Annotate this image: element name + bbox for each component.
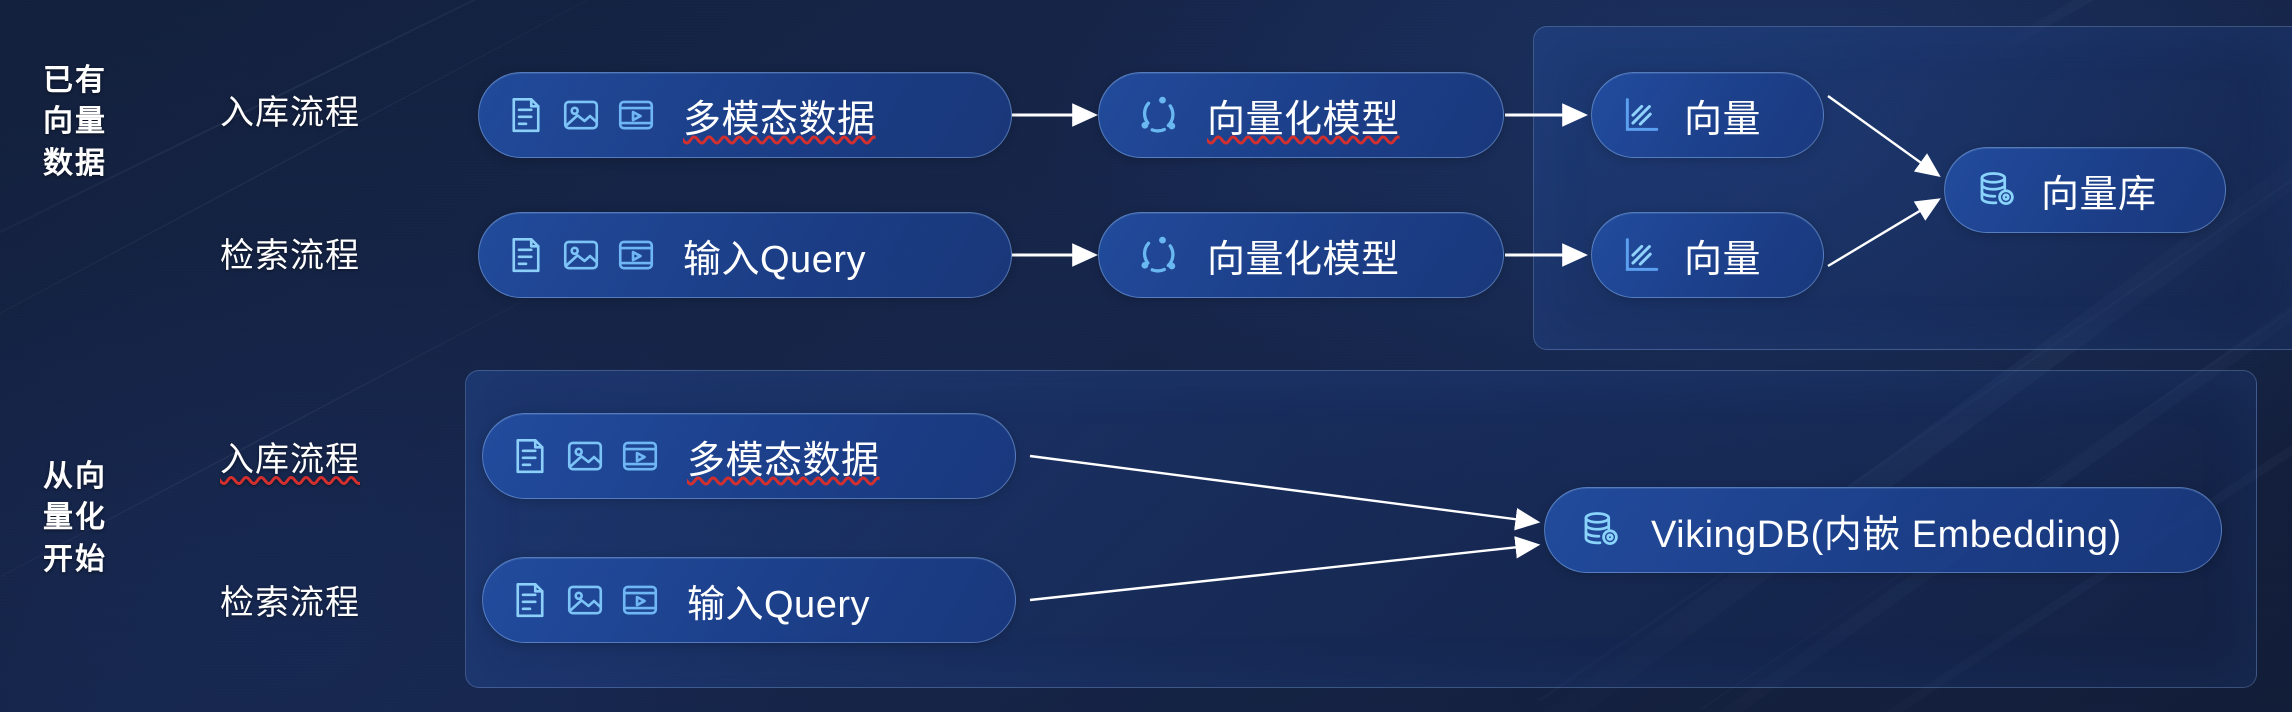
db-icon-group	[1975, 168, 2019, 212]
model-icon-group	[1137, 233, 1181, 277]
flow-label-top-ingest: 入库流程	[220, 85, 360, 134]
document-icon	[509, 579, 551, 621]
image-icon	[564, 435, 606, 477]
node-input-query-top[interactable]: 输入Query	[478, 212, 1012, 298]
node-vector-db[interactable]: 向量库	[1944, 147, 2226, 233]
side-label-line: 开始	[20, 539, 130, 580]
loading-circle-icon	[1137, 233, 1181, 277]
diagram-canvas: 已有 向量 数据 从向 量化 开始 入库流程 检索流程 入库流程 检索流程 多模…	[0, 0, 2292, 712]
node-vikingdb[interactable]: VikingDB(内嵌 Embedding)	[1544, 487, 2222, 573]
vector-icon-group	[1620, 94, 1662, 136]
node-label: VikingDB(内嵌 Embedding)	[1651, 503, 2122, 558]
database-search-icon	[1579, 508, 1623, 552]
side-label-line: 数据	[20, 143, 130, 184]
video-icon	[615, 234, 657, 276]
document-icon	[505, 94, 547, 136]
side-label-line: 从向	[20, 456, 130, 497]
node-label: 多模态数据	[687, 429, 880, 484]
node-vector-top[interactable]: 向量	[1591, 72, 1824, 158]
image-icon	[560, 234, 602, 276]
loading-circle-icon	[1137, 93, 1181, 137]
node-multimodal-data-bottom[interactable]: 多模态数据	[482, 413, 1016, 499]
node-label: 输入Query	[687, 573, 870, 628]
image-icon	[564, 579, 606, 621]
node-vectorization-model-bottom[interactable]: 向量化模型	[1098, 212, 1504, 298]
vector-axis-icon	[1620, 234, 1662, 276]
media-type-icons	[509, 435, 661, 477]
node-label: 多模态数据	[683, 88, 876, 143]
side-label-line: 向量	[20, 101, 130, 142]
side-label-existing-vector-data: 已有 向量 数据	[20, 60, 130, 184]
node-vector-bottom[interactable]: 向量	[1591, 212, 1824, 298]
node-input-query-bottom[interactable]: 输入Query	[482, 557, 1016, 643]
side-label-line: 量化	[20, 497, 130, 538]
document-icon	[509, 435, 551, 477]
model-icon-group	[1137, 93, 1181, 137]
side-label-line: 已有	[20, 60, 130, 101]
media-type-icons	[509, 579, 661, 621]
node-label: 向量化模型	[1207, 88, 1400, 143]
flow-label-top-retrieval: 检索流程	[220, 228, 360, 277]
video-icon	[619, 435, 661, 477]
side-label-start-from-vectorization: 从向 量化 开始	[20, 456, 130, 580]
node-label: 向量库	[2041, 163, 2157, 218]
vector-axis-icon	[1620, 94, 1662, 136]
vector-icon-group	[1620, 234, 1662, 276]
database-search-icon	[1975, 168, 2019, 212]
node-label: 向量化模型	[1207, 228, 1400, 283]
flow-label-bottom-retrieval: 检索流程	[220, 575, 360, 624]
node-label: 输入Query	[683, 228, 866, 283]
node-label: 向量	[1684, 228, 1761, 283]
media-type-icons	[505, 234, 657, 276]
video-icon	[619, 579, 661, 621]
node-multimodal-data-top[interactable]: 多模态数据	[478, 72, 1012, 158]
image-icon	[560, 94, 602, 136]
flow-label-bottom-ingest: 入库流程	[220, 432, 360, 481]
db-icon-group	[1579, 508, 1623, 552]
node-label: 向量	[1684, 88, 1761, 143]
video-icon	[615, 94, 657, 136]
document-icon	[505, 234, 547, 276]
media-type-icons	[505, 94, 657, 136]
node-vectorization-model-top[interactable]: 向量化模型	[1098, 72, 1504, 158]
